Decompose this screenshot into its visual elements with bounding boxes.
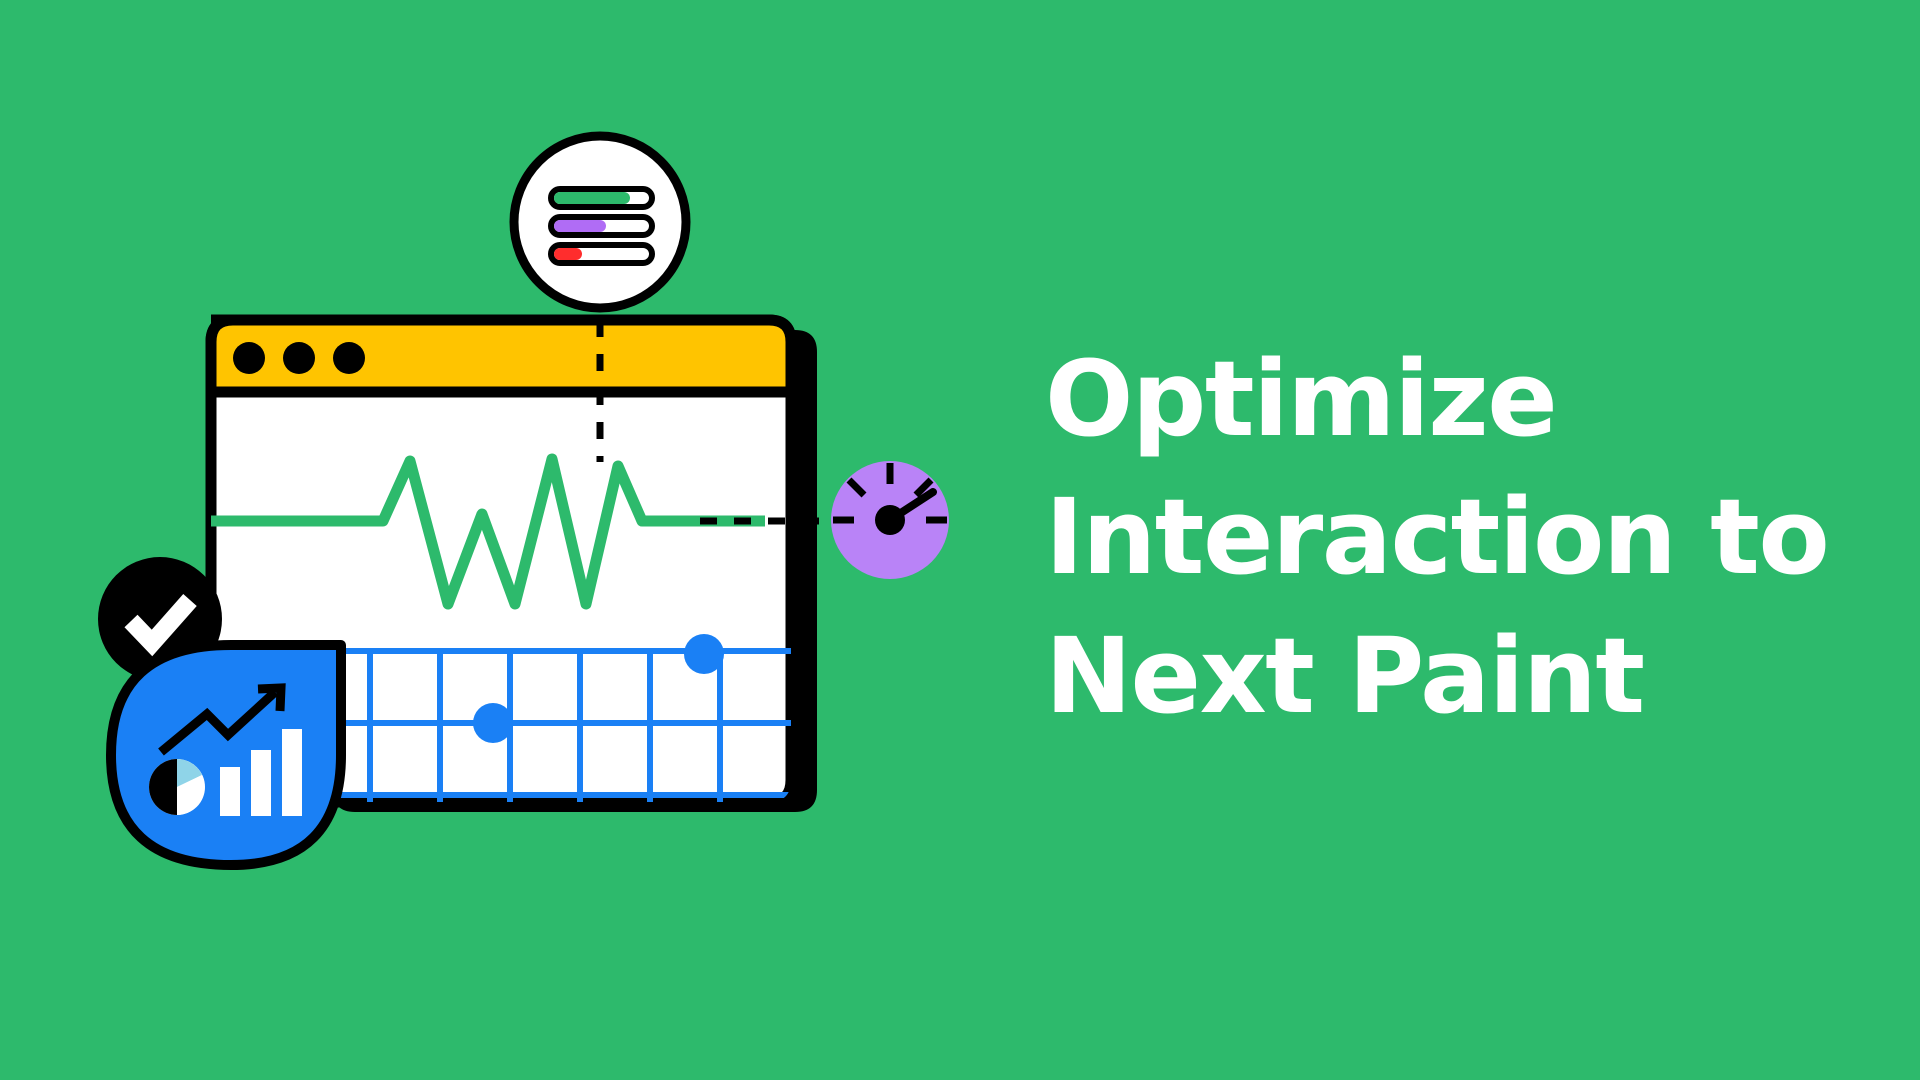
- grid-point-1[interactable]: [684, 634, 724, 674]
- grid-point-2[interactable]: [473, 703, 513, 743]
- metric-bar-good-fill: [554, 192, 630, 204]
- window-dot-2-icon[interactable]: [283, 342, 315, 374]
- window-dot-1-icon[interactable]: [233, 342, 265, 374]
- metric-bar-needs-improvement: [551, 217, 652, 235]
- analytics-bar-1: [220, 767, 240, 816]
- metrics-badge[interactable]: [514, 136, 686, 308]
- metric-bar-good: [551, 189, 652, 207]
- gauge-badge[interactable]: [831, 461, 949, 579]
- metric-bar-ni-fill: [554, 220, 606, 232]
- page-title: Optimize Interaction to Next Paint: [1045, 330, 1865, 745]
- window-dot-3-icon[interactable]: [333, 342, 365, 374]
- metric-bar-poor-fill: [554, 248, 582, 260]
- analytics-badge-shape: [111, 645, 341, 865]
- analytics-bar-2: [251, 750, 271, 816]
- page-root: Optimize Interaction to Next Paint: [0, 0, 1920, 1080]
- metric-bar-poor: [551, 245, 652, 263]
- gauge-hub: [875, 505, 905, 535]
- analytics-bar-3: [282, 729, 302, 816]
- analytics-pie: [149, 759, 205, 815]
